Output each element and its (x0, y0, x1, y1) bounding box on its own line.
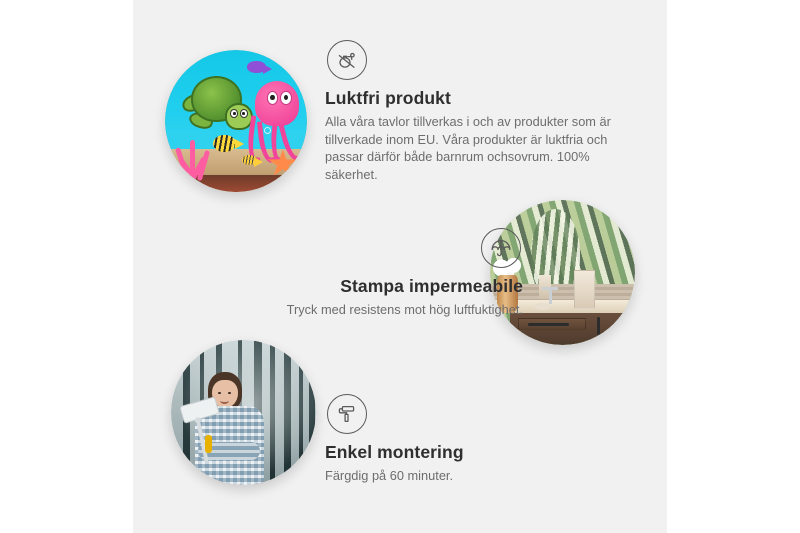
feature-waterproof-print: Stampa impermeabile Tryck med resistens … (218, 228, 523, 319)
feature-odour-free: Luktfri produkt Alla våra tavlor tillver… (325, 40, 620, 183)
ocean-coral (176, 138, 213, 181)
product-features-panel: Luktfri produkt Alla våra tavlor tillver… (0, 0, 800, 533)
no-odour-icon (327, 40, 367, 80)
woman-figure (191, 372, 275, 485)
image-woman-scene (171, 340, 316, 485)
feature-title: Stampa impermeabile (218, 276, 523, 297)
feature-title: Luktfri produkt (325, 88, 620, 109)
umbrella-icon (481, 228, 521, 268)
feature-description: Färgdig på 60 minuter. (325, 467, 625, 485)
image-ocean-inner (165, 50, 307, 192)
paint-roller-icon (327, 394, 367, 434)
feature-description: Alla våra tavlor tillverkas i och av pro… (325, 113, 620, 183)
bathroom-towel (574, 270, 595, 310)
feature-description: Tryck med resistens mot hög luftfuktighe… (218, 301, 523, 319)
bathroom-faucet (549, 287, 552, 304)
image-woman-inner (171, 340, 316, 485)
ocean-octopus (245, 81, 305, 161)
content-panel: Luktfri produkt Alla våra tavlor tillver… (133, 0, 667, 533)
image-ocean-scene (165, 50, 307, 192)
ocean-turtle (185, 76, 250, 133)
feature-title: Enkel montering (325, 442, 625, 463)
feature-easy-mounting: Enkel montering Färgdig på 60 minuter. (325, 394, 625, 485)
ocean-fish-small (242, 155, 258, 165)
ocean-fish-purple (247, 61, 265, 72)
bathroom-vanity-cabinet (510, 313, 635, 345)
